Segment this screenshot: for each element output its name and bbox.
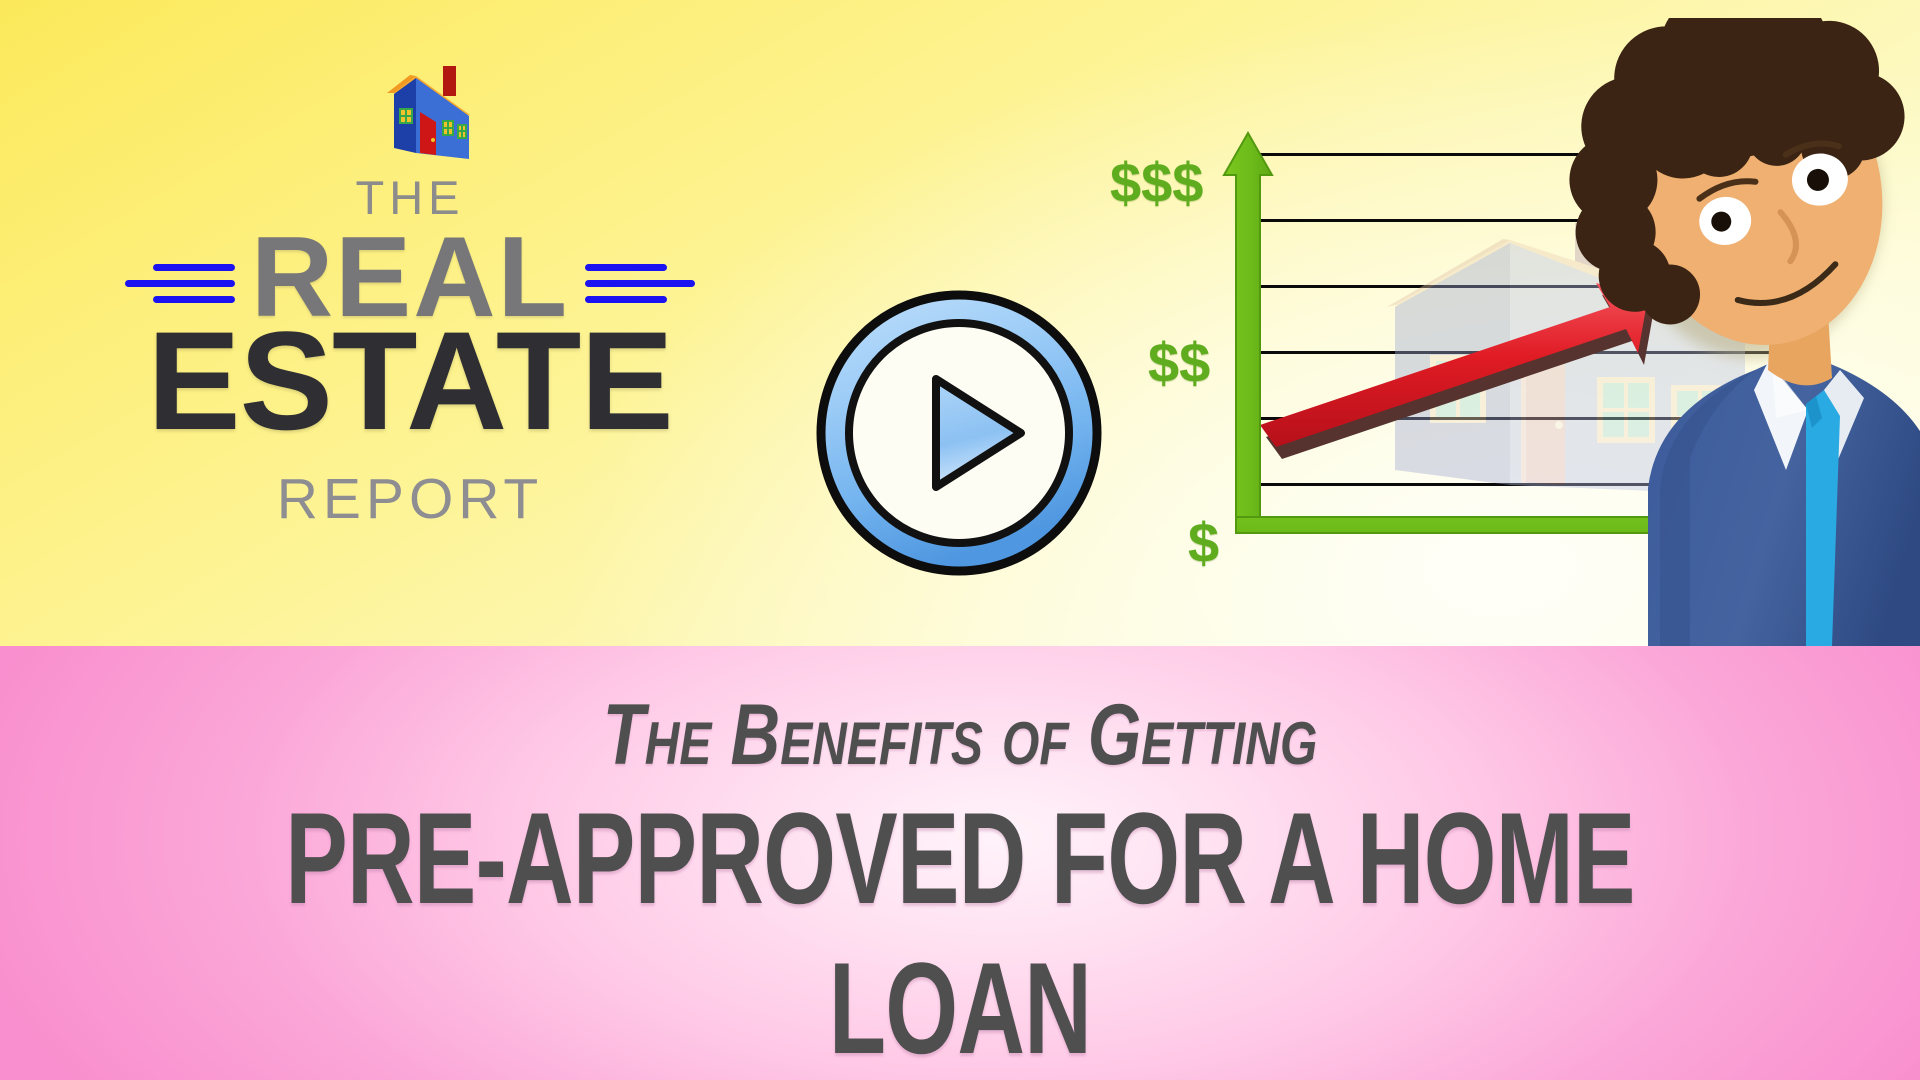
brand-logo: THE REAL ESTATE REPORT <box>130 58 690 528</box>
logo-report-text: REPORT <box>130 466 690 532</box>
thumbnail-canvas: THE REAL ESTATE REPORT <box>0 0 1920 1080</box>
banner-subhead: The Benefits of Getting <box>192 686 1728 785</box>
tick-label-high: $$$ <box>1110 150 1203 215</box>
house-icon <box>370 60 488 165</box>
logo-estate-text: ESTATE <box>124 311 696 451</box>
tick-label-mid: $$ <box>1148 330 1210 395</box>
tick-label-low: $ <box>1188 510 1219 575</box>
businessman-illustration <box>1540 18 1920 646</box>
title-banner: The Benefits of Getting PRE-APPROVED FOR… <box>0 646 1920 1080</box>
hero-panel: THE REAL ESTATE REPORT <box>0 0 1920 646</box>
banner-headline: PRE-APPROVED FOR A HOME LOAN <box>269 783 1651 1080</box>
play-button[interactable] <box>812 284 1107 579</box>
